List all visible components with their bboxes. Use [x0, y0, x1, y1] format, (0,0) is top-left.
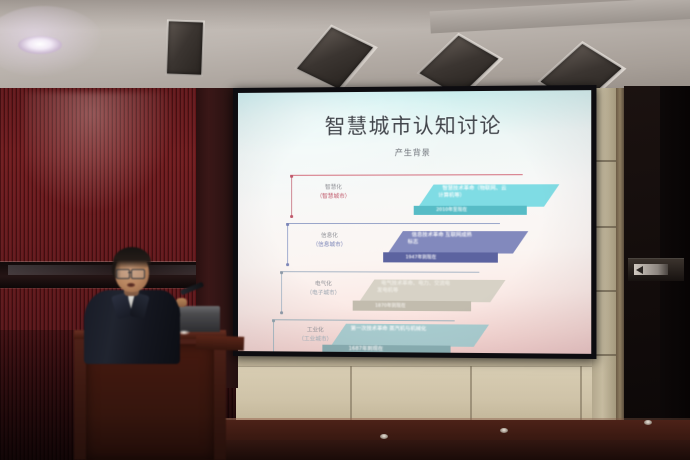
- podium-side-rail: [196, 335, 244, 351]
- wall-panel-seam: [580, 366, 582, 422]
- wall-panel-seam: [470, 366, 472, 424]
- ceiling-vent: [297, 27, 373, 88]
- floor-light-icon: [500, 428, 508, 433]
- floor-light-icon: [380, 434, 388, 439]
- stage-front-face: [196, 440, 690, 460]
- screen-vignette: [238, 90, 591, 354]
- eyeglasses-bridge: [128, 272, 132, 273]
- projection-screen: 智慧城市认知讨论 产生背景 智慧化 （智慧城市） 智慧技术革命（物联网、云 计算…: [238, 90, 591, 354]
- lecture-hall-photo: 智慧城市认知讨论 产生背景 智慧化 （智慧城市） 智慧技术革命（物联网、云 计算…: [0, 0, 690, 460]
- eyeglasses-lens-left: [116, 269, 130, 279]
- eyeglasses-lens-right: [131, 269, 145, 279]
- presenter: [84, 250, 180, 360]
- arrow-left-icon: [636, 266, 643, 274]
- wall-light-sheen: [24, 92, 174, 212]
- wall-panel-seam: [350, 366, 352, 424]
- presenter-mouth: [127, 283, 135, 287]
- ceiling-downlight-icon: [18, 36, 62, 54]
- wall-trim-line: [228, 366, 618, 367]
- floor-light-icon: [644, 420, 652, 425]
- exit-sign: [628, 258, 684, 281]
- ceiling-vent: [167, 21, 203, 74]
- projection-screen-frame: 智慧城市认知讨论 产生背景 智慧化 （智慧城市） 智慧技术革命（物联网、云 计算…: [233, 85, 596, 359]
